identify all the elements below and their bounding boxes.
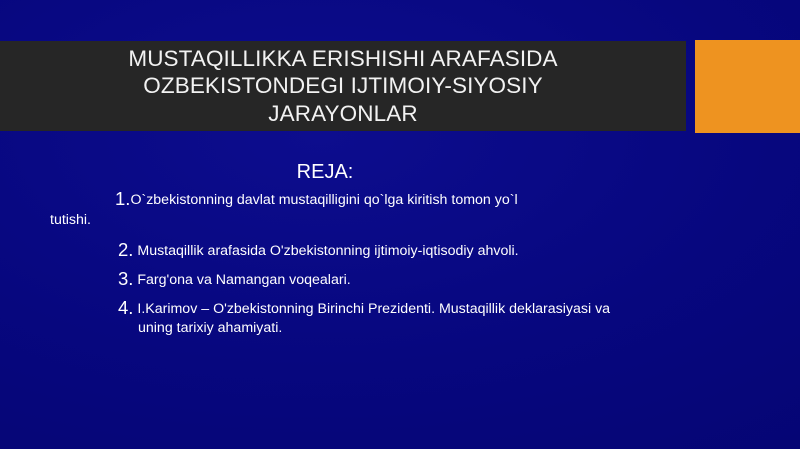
agenda-item-2-number: 2. bbox=[118, 239, 133, 260]
agenda-item-4: 4. I.Karimov – O'zbekistonning Birinchi … bbox=[118, 299, 800, 337]
agenda-item-1-continuation: tutishi. bbox=[50, 211, 640, 230]
slide-title: MUSTAQILLIKKA ERISHISHI ARAFASIDA OZBEKI… bbox=[128, 45, 557, 127]
orange-accent-block bbox=[695, 40, 800, 133]
agenda-item-3-number: 3. bbox=[118, 268, 133, 289]
agenda-item-4-number: 4. bbox=[118, 297, 133, 318]
agenda-list: 1.O`zbekistonning davlat mustaqilligini … bbox=[0, 190, 800, 337]
agenda-item-3-text: Farg'ona va Namangan voqealari. bbox=[133, 272, 350, 288]
agenda-item-1-text: O`zbekistonning davlat mustaqilligini qo… bbox=[130, 192, 517, 208]
agenda-item-3: 3. Farg'ona va Namangan voqealari. bbox=[118, 270, 800, 290]
agenda-heading: REJA: bbox=[0, 160, 800, 184]
agenda-item-1: 1.O`zbekistonning davlat mustaqilligini … bbox=[0, 190, 800, 229]
agenda-item-2: 2. Mustaqillik arafasida O'zbekistonning… bbox=[118, 241, 800, 261]
agenda-item-2-text: Mustaqillik arafasida O'zbekistonning ij… bbox=[133, 243, 518, 259]
agenda-item-1-number: 1. bbox=[115, 188, 130, 209]
agenda-item-4-text: I.Karimov – O'zbekistonning Birinchi Pre… bbox=[133, 301, 610, 336]
slide-body: REJA: 1.O`zbekistonning davlat mustaqill… bbox=[0, 150, 800, 337]
title-banner: MUSTAQILLIKKA ERISHISHI ARAFASIDA OZBEKI… bbox=[0, 41, 686, 131]
presentation-slide: MUSTAQILLIKKA ERISHISHI ARAFASIDA OZBEKI… bbox=[0, 0, 800, 449]
